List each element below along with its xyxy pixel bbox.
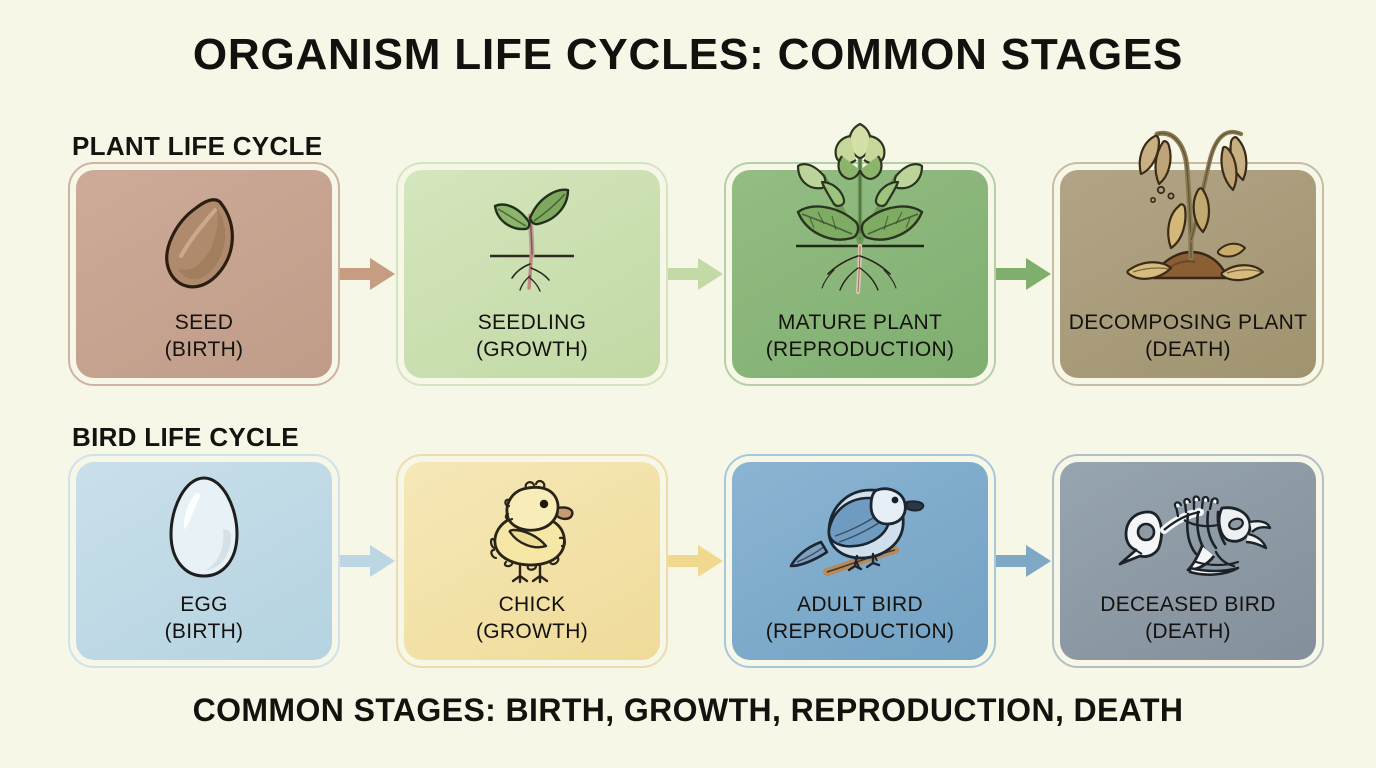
diagram-canvas: ORGANISM LIFE CYCLES: COMMON STAGES PLAN… xyxy=(0,0,1376,768)
stage-card-seedling[interactable]: SEEDLING (GROWTH) xyxy=(396,168,668,380)
stage-phase: (GROWTH) xyxy=(476,337,588,364)
stage-card-egg[interactable]: EGG (BIRTH) xyxy=(68,460,340,662)
stage-name: CHICK xyxy=(499,593,566,616)
stage-name: SEEDLING xyxy=(478,311,587,334)
stage-phase: (DEATH) xyxy=(1100,619,1275,646)
stage-card-chick[interactable]: CHICK (GROWTH) xyxy=(396,460,668,662)
card-label: SEEDLING (GROWTH) xyxy=(476,310,588,364)
stage-card-decomposing-plant[interactable]: DECOMPOSING PLANT (DEATH) xyxy=(1052,168,1324,380)
card-label: EGG (BIRTH) xyxy=(165,592,244,646)
stage-card-seed[interactable]: SEED (BIRTH) xyxy=(68,168,340,380)
stage-card-adult-bird[interactable]: ADULT BIRD (REPRODUCTION) xyxy=(724,460,996,662)
card-label: MATURE PLANT (REPRODUCTION) xyxy=(766,310,955,364)
plant-life-cycle-row: SEED (BIRTH) xyxy=(68,168,1312,380)
stage-name: DECEASED BIRD xyxy=(1100,593,1275,616)
card-body: SEEDLING (GROWTH) xyxy=(404,170,660,378)
card-body: MATURE PLANT (REPRODUCTION) xyxy=(732,170,988,378)
card-body: EGG (BIRTH) xyxy=(76,462,332,660)
arrow-seed-to-seedling xyxy=(340,168,396,380)
stage-phase: (BIRTH) xyxy=(165,337,244,364)
bird-life-cycle-row: EGG (BIRTH) xyxy=(68,460,1312,662)
arrow-egg-to-chick xyxy=(340,460,396,662)
stage-phase: (GROWTH) xyxy=(476,619,588,646)
stage-name: ADULT BIRD xyxy=(797,593,923,616)
stage-name: SEED xyxy=(175,311,233,334)
stage-name: EGG xyxy=(180,593,228,616)
arrow-chick-to-adult xyxy=(668,460,724,662)
arrow-mature-to-decomposing xyxy=(996,168,1052,380)
stage-name: MATURE PLANT xyxy=(778,311,942,334)
arrow-adult-to-deceased xyxy=(996,460,1052,662)
page-title: ORGANISM LIFE CYCLES: COMMON STAGES xyxy=(0,30,1376,80)
card-body: CHICK (GROWTH) xyxy=(404,462,660,660)
card-body: DECOMPOSING PLANT (DEATH) xyxy=(1060,170,1316,378)
card-label: DECOMPOSING PLANT (DEATH) xyxy=(1069,310,1307,364)
card-label: DECEASED BIRD (DEATH) xyxy=(1100,592,1275,646)
stage-name: DECOMPOSING PLANT xyxy=(1069,311,1307,334)
arrow-seedling-to-mature xyxy=(668,168,724,380)
section-label-plant: PLANT LIFE CYCLE xyxy=(72,131,322,162)
footer-summary: COMMON STAGES: BIRTH, GROWTH, REPRODUCTI… xyxy=(0,692,1376,729)
card-body: DECEASED BIRD (DEATH) xyxy=(1060,462,1316,660)
stage-phase: (DEATH) xyxy=(1069,337,1307,364)
section-label-bird: BIRD LIFE CYCLE xyxy=(72,422,299,453)
card-body: ADULT BIRD (REPRODUCTION) xyxy=(732,462,988,660)
stage-phase: (REPRODUCTION) xyxy=(766,337,955,364)
card-label: ADULT BIRD (REPRODUCTION) xyxy=(766,592,955,646)
stage-phase: (BIRTH) xyxy=(165,619,244,646)
card-label: SEED (BIRTH) xyxy=(165,310,244,364)
card-label: CHICK (GROWTH) xyxy=(476,592,588,646)
stage-card-mature-plant[interactable]: MATURE PLANT (REPRODUCTION) xyxy=(724,168,996,380)
stage-phase: (REPRODUCTION) xyxy=(766,619,955,646)
card-body: SEED (BIRTH) xyxy=(76,170,332,378)
stage-card-deceased-bird[interactable]: DECEASED BIRD (DEATH) xyxy=(1052,460,1324,662)
